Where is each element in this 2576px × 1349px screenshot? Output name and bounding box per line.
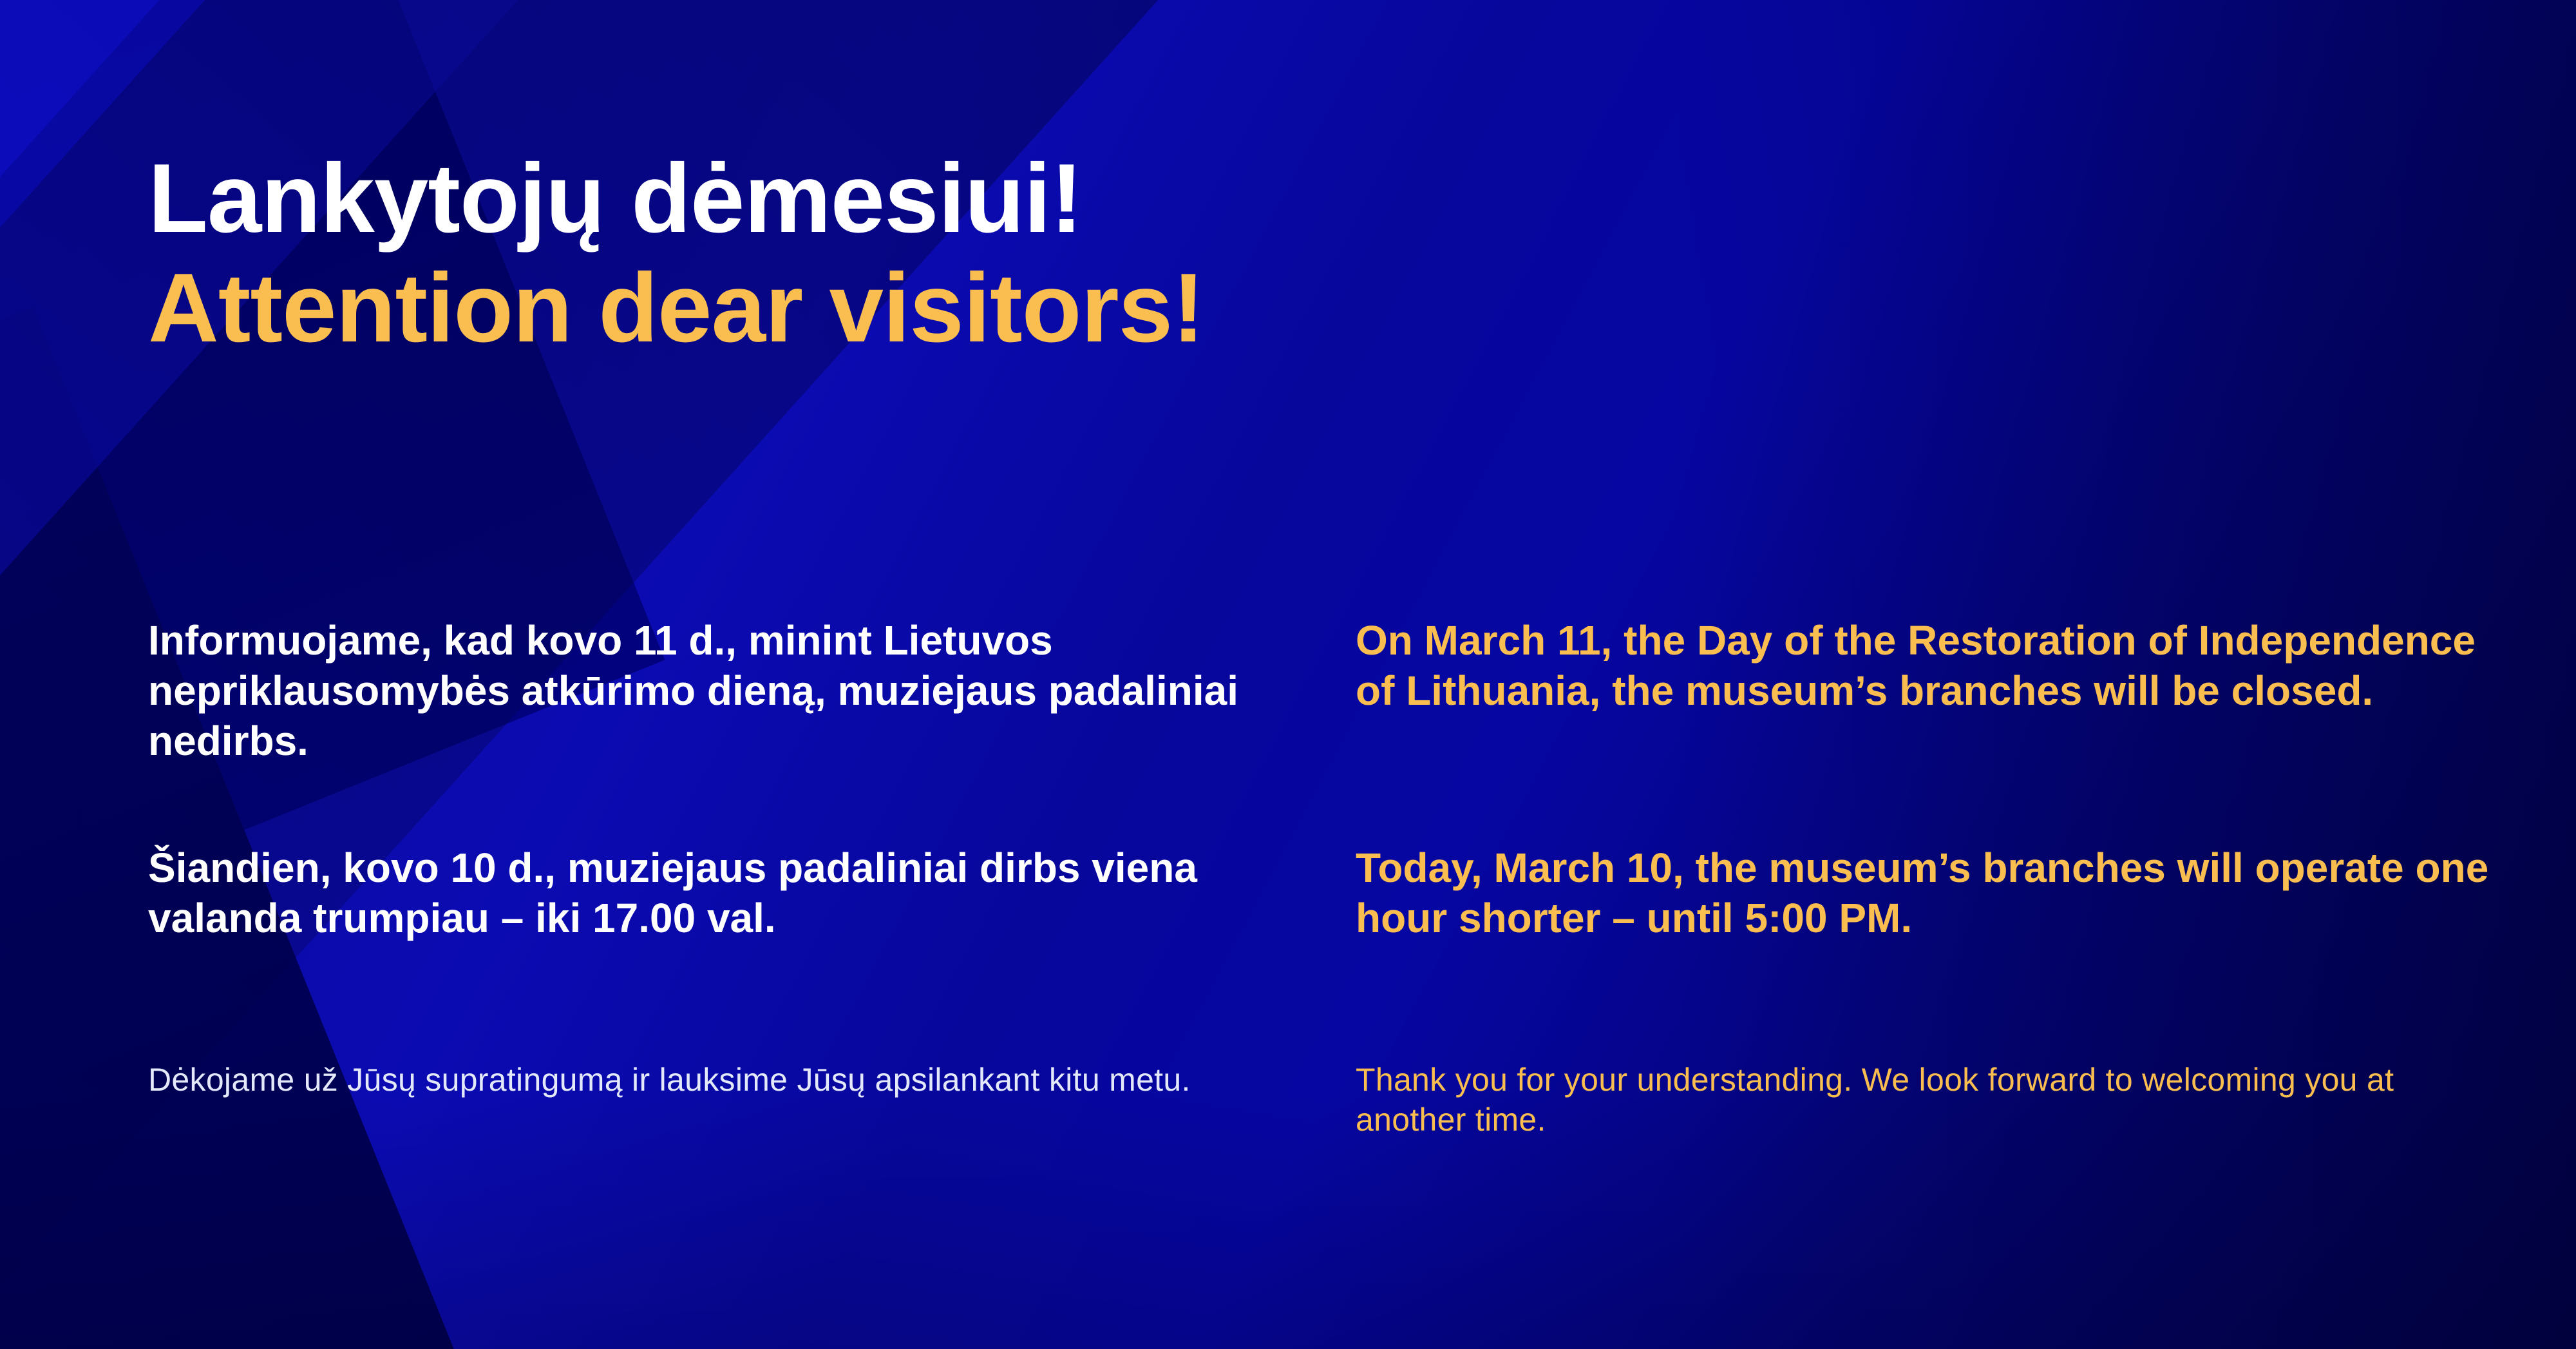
lithuanian-paragraph-2: Šiandien, kovo 10 d., muziejaus padalini…	[148, 843, 1282, 943]
english-closing: Thank you for your understanding. We loo…	[1356, 1060, 2489, 1140]
headline-block: Lankytojų dėmesiui! Attention dear visit…	[148, 149, 1204, 357]
english-paragraph-1: On March 11, the Day of the Restoration …	[1356, 615, 2489, 716]
headline-english: Attention dear visitors!	[148, 259, 1204, 357]
announcement-poster: Lankytojų dėmesiui! Attention dear visit…	[0, 0, 2576, 1349]
english-paragraph-2: Today, March 10, the museum’s branches w…	[1356, 843, 2489, 943]
headline-lithuanian: Lankytojų dėmesiui!	[148, 149, 1204, 247]
poster-content: Lankytojų dėmesiui! Attention dear visit…	[0, 0, 2576, 1349]
lithuanian-paragraph-1: Informuojame, kad kovo 11 d., minint Lie…	[148, 615, 1282, 766]
lithuanian-closing: Dėkojame už Jūsų supratingumą ir lauksim…	[148, 1060, 1282, 1100]
